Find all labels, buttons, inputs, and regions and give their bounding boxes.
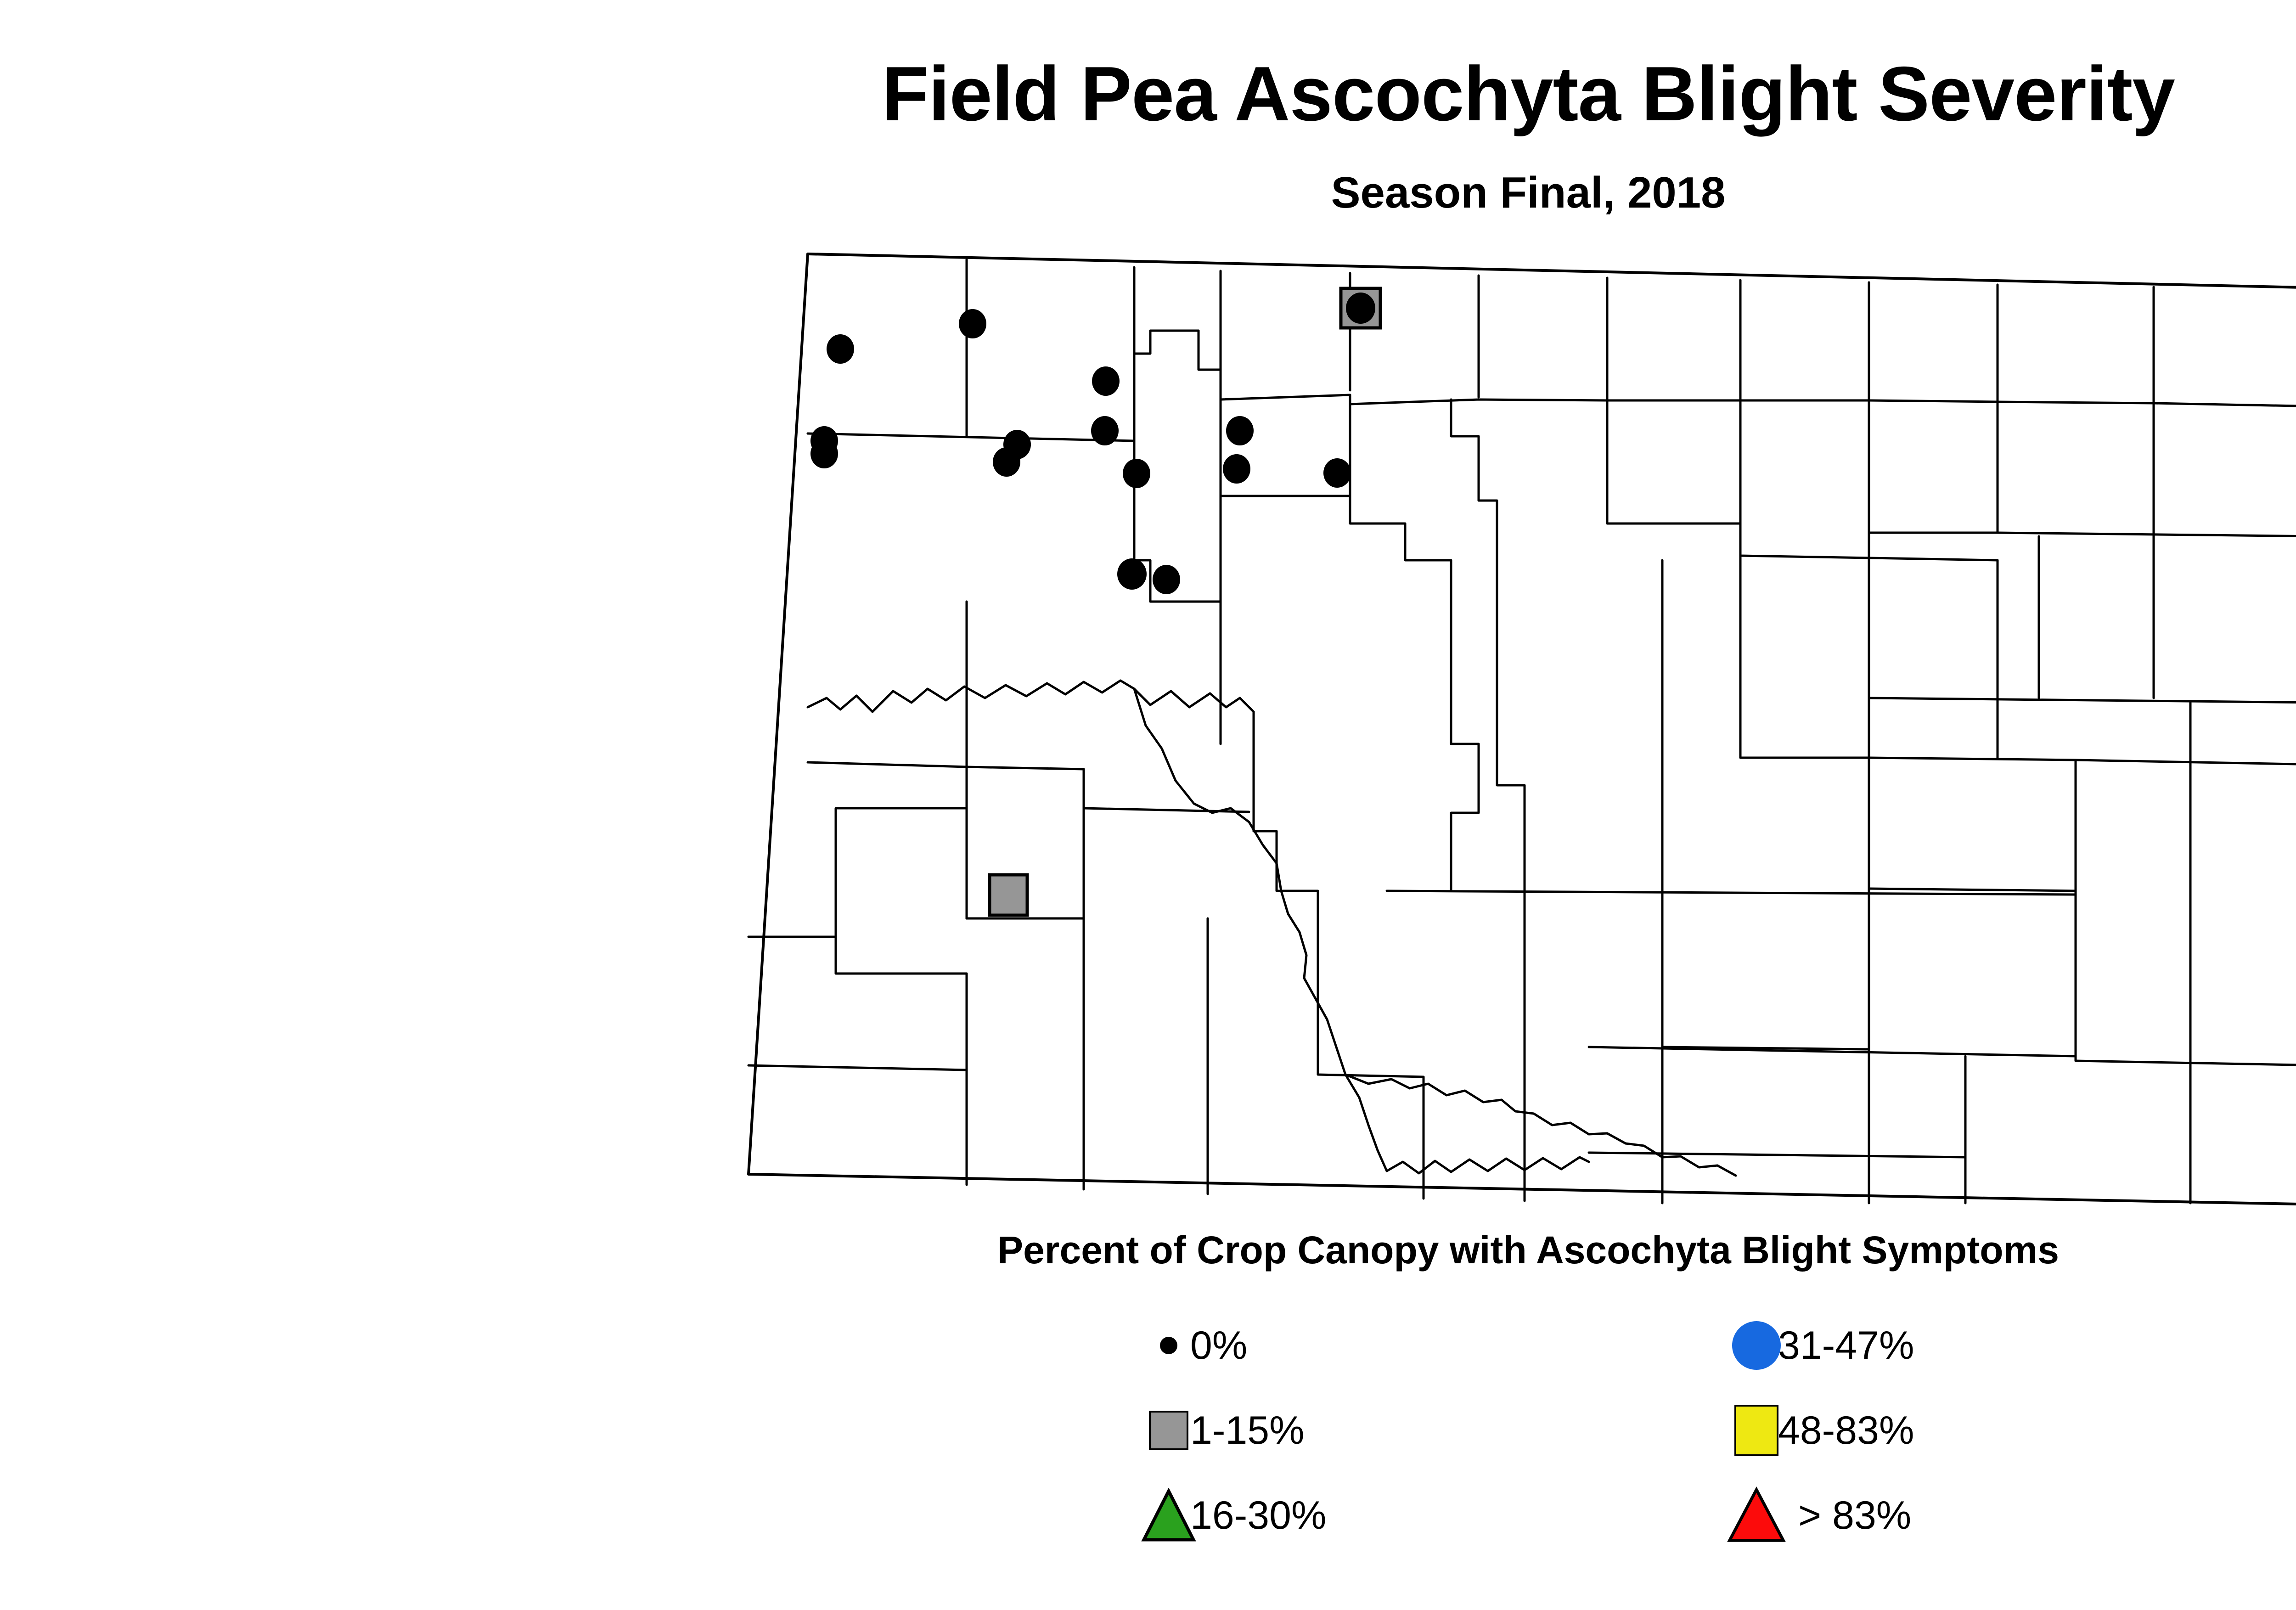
legend-label: 1-15% [1190,1411,1305,1450]
page-subtitle: Season Final, 2018 [0,171,2296,215]
map-figure: Field Pea Ascochyta Blight Severity Seas… [0,0,2296,1610]
legend-item-1-15-percent[interactable]: 1-15% [1139,1394,1552,1467]
yellow-square-icon [1727,1401,1786,1460]
legend-item-0-percent[interactable]: 0% [1139,1309,1552,1382]
page-title: Field Pea Ascochyta Blight Severity [0,55,2296,132]
legend-column-right: 31-47% 48-83% > 83% [1727,1309,2140,1566]
legend-column-left: 0% 1-15% 16-30% [1139,1309,1552,1566]
legend: 0% 1-15% 16-30% [1139,1309,2011,1566]
small-black-circle-icon [1139,1316,1199,1375]
blue-circle-icon [1727,1316,1786,1375]
data-points [810,288,1380,915]
legend-label: 48-83% [1778,1411,1914,1450]
legend-item-31-47-percent[interactable]: 31-47% [1727,1309,2140,1382]
marker-black-dot-group[interactable] [810,309,1351,594]
legend-item-48-83-percent[interactable]: 48-83% [1727,1394,2140,1467]
legend-item-16-30-percent[interactable]: 16-30% [1139,1479,1552,1552]
green-triangle-icon [1139,1486,1199,1545]
marker-gray-square[interactable] [990,875,1027,915]
legend-label: 16-30% [1190,1496,1326,1535]
marker-gray-square-with-dot[interactable] [1341,288,1380,328]
legend-label: > 83% [1798,1496,1911,1535]
county-boundaries [748,254,2296,1205]
legend-label: 0% [1190,1326,1247,1365]
red-triangle-icon [1727,1486,1786,1545]
gray-square-icon [1139,1401,1199,1460]
legend-item-over-83-percent[interactable]: > 83% [1727,1479,2140,1552]
map-caption: Percent of Crop Canopy with Ascochyta Bl… [0,1231,2296,1269]
legend-label: 31-47% [1778,1326,1914,1365]
north-dakota-county-map [735,239,2296,1222]
